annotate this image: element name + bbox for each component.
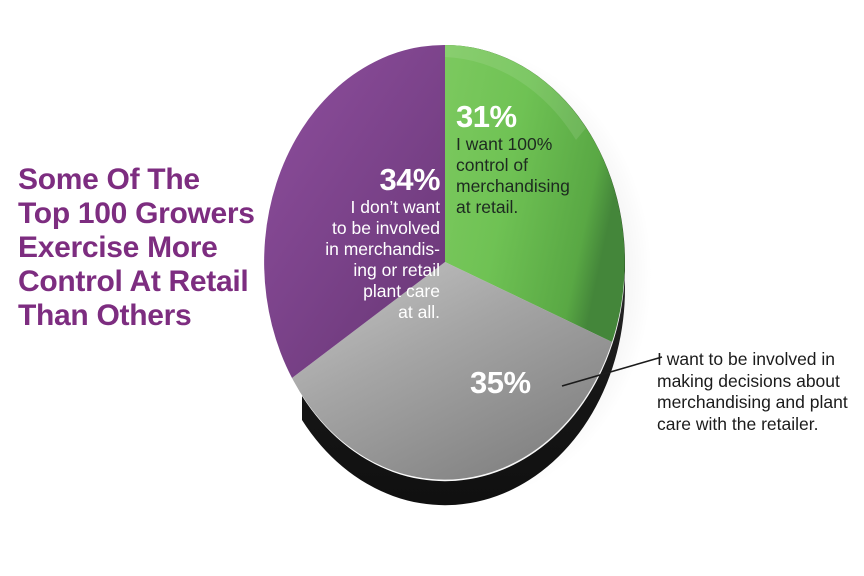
slice-description-green: I want 100% control of merchandising at … [456,134,636,218]
slice-percent-green: 31% [456,100,636,134]
slice-label-green: 31% I want 100% control of merchandising… [456,100,636,218]
slice-label-gray: 35% [470,366,560,400]
callout-description-gray: I want to be involved in making decision… [657,349,864,435]
slice-description-purple: I don’t want to be involved in merchandi… [312,197,440,323]
slice-percent-purple: 34% [312,163,440,197]
page-title: Some Of The Top 100 Growers Exercise Mor… [18,163,298,333]
infographic-canvas: Some Of The Top 100 Growers Exercise Mor… [0,0,864,576]
slice-label-purple: 34% I don’t want to be involved in merch… [312,163,440,323]
slice-percent-gray: 35% [470,366,560,400]
